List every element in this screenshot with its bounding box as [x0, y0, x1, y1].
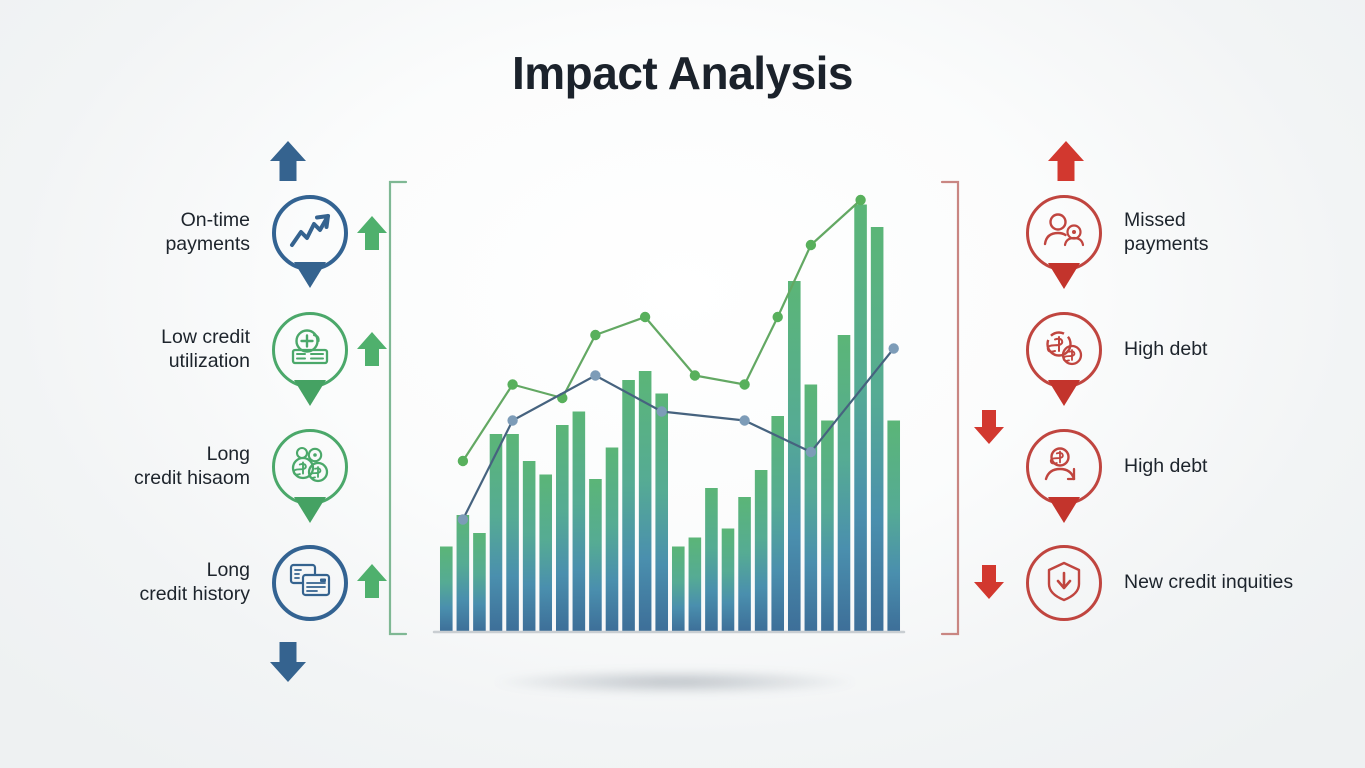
trend-up-icon	[286, 208, 334, 259]
infographic-canvas: Impact Analysis On-time payments	[0, 0, 1365, 768]
left-item-label: Long credit history	[100, 559, 250, 607]
chart-svg	[428, 170, 910, 648]
long-credit-history-badge[interactable]	[272, 429, 348, 505]
left-item-long-credit-hisaom[interactable]: Long credit hisaom	[100, 429, 355, 505]
right-item-missed-payments[interactable]: Missed payments	[1026, 195, 1209, 271]
right-indicator-down-2-icon	[972, 563, 1006, 601]
shield-down-icon	[1043, 559, 1085, 608]
chart-marker	[690, 370, 700, 380]
chart-marker	[590, 370, 600, 380]
credit-history-badge[interactable]	[272, 545, 348, 621]
chart-bar	[738, 497, 751, 632]
left-bottom-arrow-down-icon	[267, 640, 309, 684]
chart-bar	[871, 227, 884, 632]
chart-marker	[458, 514, 468, 524]
right-item-label: High debt	[1124, 455, 1207, 479]
chart-bar	[506, 434, 519, 632]
pointer-tail	[1048, 380, 1080, 406]
chart-marker	[458, 456, 468, 466]
chart-marker	[590, 330, 600, 340]
left-item-label: Long credit hisaom	[100, 443, 250, 491]
chart-shadow	[430, 665, 920, 699]
page-title: Impact Analysis	[0, 46, 1365, 100]
person-dollar-icon	[1041, 445, 1087, 490]
high-debt-badge-2[interactable]	[1026, 429, 1102, 505]
chart-bar	[523, 461, 536, 632]
right-indicator-down-1-icon	[972, 408, 1006, 446]
left-indicator-up-1-icon	[355, 214, 389, 252]
chart-bar	[573, 412, 586, 633]
right-bracket	[940, 180, 962, 641]
chart-bar	[655, 394, 668, 633]
person-alert-icon	[1041, 211, 1087, 256]
chart-bar	[556, 425, 569, 632]
high-debt-badge-1[interactable]	[1026, 312, 1102, 388]
left-top-arrow-up-icon	[267, 139, 309, 183]
chart-bar	[805, 385, 818, 633]
right-item-label: Missed payments	[1124, 209, 1209, 257]
chart-marker	[855, 195, 865, 205]
chart-bar	[589, 479, 602, 632]
right-item-new-credit-inquiries[interactable]: New credit inquities	[1026, 545, 1293, 621]
pointer-tail	[294, 380, 326, 406]
chart-bar	[887, 421, 900, 633]
left-item-label: Low credit utilization	[120, 326, 250, 374]
left-item-on-time-payments[interactable]: On-time payments	[120, 195, 355, 271]
chart-marker	[657, 406, 667, 416]
chart-marker	[806, 447, 816, 457]
chart-bar	[473, 533, 486, 632]
chart-marker	[889, 343, 899, 353]
chart-bar	[672, 547, 685, 633]
chart-bar	[539, 475, 552, 633]
money-plus-icon	[287, 326, 333, 375]
chart-bar	[622, 380, 635, 632]
chart-marker	[507, 415, 517, 425]
left-indicator-up-3-icon	[355, 562, 389, 600]
chart-bar	[705, 488, 718, 632]
chart-bar	[457, 515, 470, 632]
chart-marker	[773, 312, 783, 322]
right-item-label: High debt	[1124, 338, 1207, 362]
chart-bar	[755, 470, 768, 632]
chart-bar	[771, 416, 784, 632]
chart-marker	[507, 379, 517, 389]
chart-bar	[788, 281, 801, 632]
chart-bar	[440, 547, 453, 633]
pointer-tail	[294, 262, 326, 288]
left-item-long-credit-history[interactable]: Long credit history	[100, 545, 355, 621]
dollar-coins-icon	[1041, 327, 1087, 374]
chart-bar	[639, 371, 652, 632]
on-time-payments-badge[interactable]	[272, 195, 348, 271]
chart-bar	[689, 538, 702, 633]
right-item-high-debt-2[interactable]: High debt	[1026, 429, 1207, 505]
credit-cards-icon	[287, 561, 333, 606]
new-credit-inquiries-badge[interactable]	[1026, 545, 1102, 621]
pointer-tail	[1048, 497, 1080, 523]
left-item-low-credit-utilization[interactable]: Low credit utilization	[120, 312, 355, 388]
right-top-arrow-up-icon	[1045, 139, 1087, 183]
chart-marker	[806, 240, 816, 250]
chart-bar	[838, 335, 851, 632]
chart-bar	[854, 205, 867, 633]
missed-payments-badge[interactable]	[1026, 195, 1102, 271]
pointer-tail	[1048, 263, 1080, 289]
chart-bar	[722, 529, 735, 633]
chart-marker	[739, 415, 749, 425]
right-item-high-debt-1[interactable]: High debt	[1026, 312, 1207, 388]
pointer-tail	[294, 497, 326, 523]
coins-dollar-icon	[287, 443, 333, 492]
low-credit-utilization-badge[interactable]	[272, 312, 348, 388]
chart-bar	[606, 448, 619, 633]
impact-chart	[428, 170, 910, 648]
chart-marker	[640, 312, 650, 322]
chart-marker	[739, 379, 749, 389]
left-indicator-up-2-icon	[355, 330, 389, 368]
right-item-label: New credit inquities	[1124, 571, 1293, 595]
left-item-label: On-time payments	[120, 209, 250, 257]
left-bracket	[386, 180, 408, 641]
chart-bar	[821, 421, 834, 633]
